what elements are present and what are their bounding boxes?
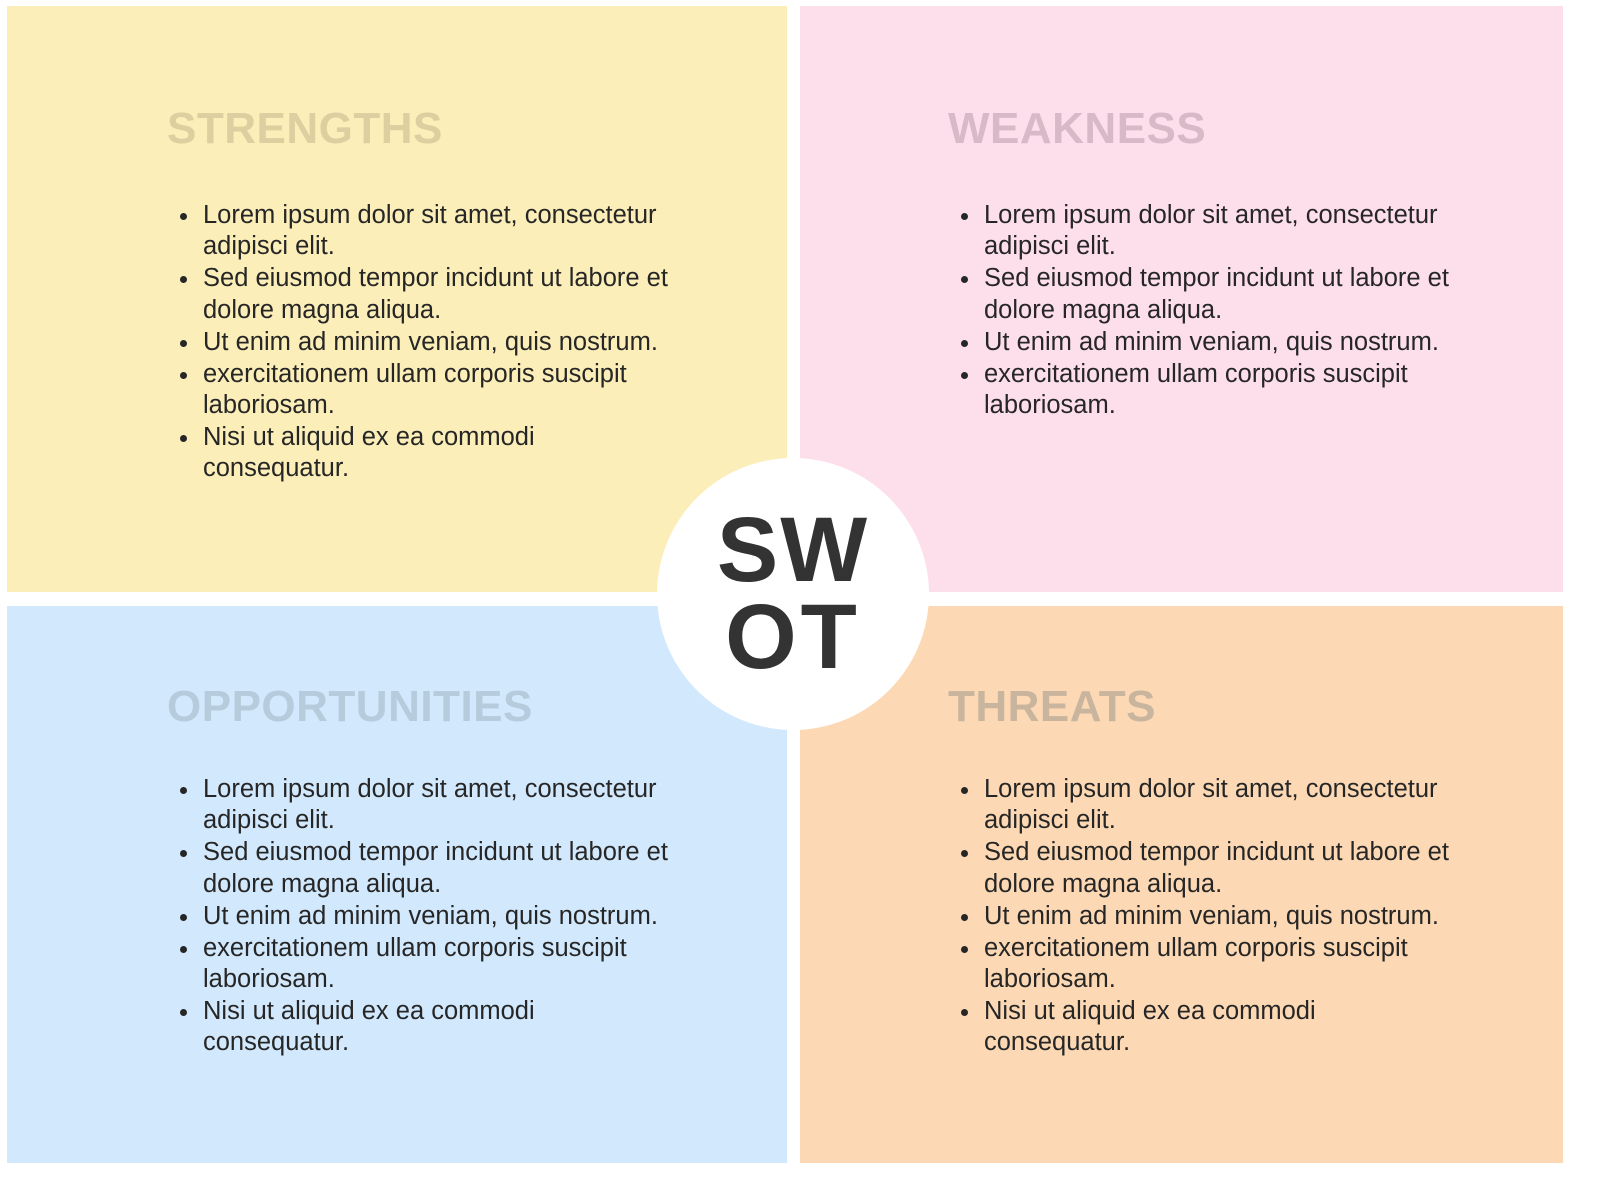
list-item: Lorem ipsum dolor sit amet, consectetur … [984, 200, 1453, 262]
list-item: exercitationem ullam corporis suscipit l… [203, 933, 677, 995]
quadrant-opportunities[interactable]: OPPORTUNITIES Lorem ipsum dolor sit amet… [7, 606, 787, 1163]
list-item: Nisi ut aliquid ex ea commodi consequatu… [984, 996, 1453, 1058]
list-item: Lorem ipsum dolor sit amet, consectetur … [203, 774, 677, 836]
list-item: Nisi ut aliquid ex ea commodi consequatu… [203, 422, 677, 484]
swot-badge-line-one: SW [717, 507, 869, 594]
quadrant-strengths-inner: STRENGTHS Lorem ipsum dolor sit amet, co… [7, 6, 787, 592]
list-item: Nisi ut aliquid ex ea commodi consequatu… [203, 996, 677, 1058]
quadrant-weakness-list: Lorem ipsum dolor sit amet, consectetur … [948, 200, 1453, 421]
list-item: Lorem ipsum dolor sit amet, consectetur … [203, 200, 677, 262]
quadrant-opportunities-inner: OPPORTUNITIES Lorem ipsum dolor sit amet… [7, 606, 787, 1163]
list-item: Sed eiusmod tempor incidunt ut labore et… [984, 263, 1453, 325]
quadrant-strengths[interactable]: STRENGTHS Lorem ipsum dolor sit amet, co… [7, 6, 787, 592]
list-item: exercitationem ullam corporis suscipit l… [984, 933, 1453, 995]
quadrant-threats-title: THREATS [948, 684, 1453, 730]
list-item: exercitationem ullam corporis suscipit l… [203, 359, 677, 421]
quadrant-opportunities-list: Lorem ipsum dolor sit amet, consectetur … [167, 774, 677, 1058]
swot-badge-line-two: OT [725, 594, 861, 681]
list-item: Sed eiusmod tempor incidunt ut labore et… [203, 263, 677, 325]
quadrant-strengths-title: STRENGTHS [167, 106, 677, 152]
list-item: Sed eiusmod tempor incidunt ut labore et… [984, 837, 1453, 899]
list-item: Ut enim ad minim veniam, quis nostrum. [203, 327, 677, 358]
list-item: Ut enim ad minim veniam, quis nostrum. [203, 901, 677, 932]
quadrant-weakness-inner: WEAKNESS Lorem ipsum dolor sit amet, con… [800, 6, 1563, 592]
list-item: Lorem ipsum dolor sit amet, consectetur … [984, 774, 1453, 836]
list-item: Ut enim ad minim veniam, quis nostrum. [984, 327, 1453, 358]
quadrant-strengths-list: Lorem ipsum dolor sit amet, consectetur … [167, 200, 677, 484]
quadrant-weakness-title: WEAKNESS [948, 106, 1453, 152]
list-item: Ut enim ad minim veniam, quis nostrum. [984, 901, 1453, 932]
quadrant-threats-list: Lorem ipsum dolor sit amet, consectetur … [948, 774, 1453, 1058]
quadrant-threats[interactable]: THREATS Lorem ipsum dolor sit amet, cons… [800, 606, 1563, 1163]
swot-diagram: STRENGTHS Lorem ipsum dolor sit amet, co… [0, 0, 1600, 1200]
list-item: Sed eiusmod tempor incidunt ut labore et… [203, 837, 677, 899]
quadrant-opportunities-title: OPPORTUNITIES [167, 684, 677, 730]
list-item: exercitationem ullam corporis suscipit l… [984, 359, 1453, 421]
quadrant-weakness[interactable]: WEAKNESS Lorem ipsum dolor sit amet, con… [800, 6, 1563, 592]
swot-center-badge: SW OT [657, 458, 929, 730]
quadrant-threats-inner: THREATS Lorem ipsum dolor sit amet, cons… [800, 606, 1563, 1163]
